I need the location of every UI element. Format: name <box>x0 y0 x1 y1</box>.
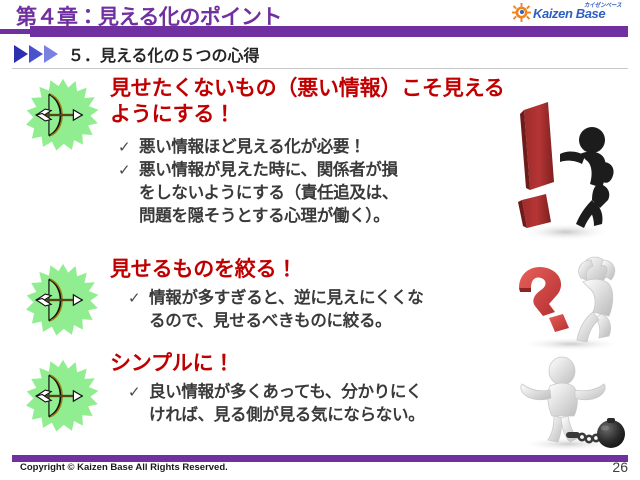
question-mark-with-figure-icon <box>505 252 635 350</box>
list-item: ✓ 悪い情報ほど見える化が必要！ <box>118 136 518 159</box>
section-subheading: ５．見える化の５つの心得 <box>14 42 260 66</box>
check-icon: ✓ <box>118 159 137 182</box>
subheading-divider <box>12 68 628 69</box>
bullet-text: 悪い情報が見えた時に、関係者が損 をしないようにする（責任追及は、 問題を隠そう… <box>139 159 398 228</box>
copyright-text: Copyright © Kaizen Base All Rights Reser… <box>20 462 228 473</box>
bullet-text: 悪い情報ほど見える化が必要！ <box>139 136 365 159</box>
block-2-bullet-list: ✓ 情報が多すぎると、逆に見えにくくな るので、見せるべきものに絞る。 <box>128 287 528 333</box>
bullet-text: 情報が多すぎると、逆に見えにくくな るので、見せるべきものに絞る。 <box>149 287 423 333</box>
bow-and-arrow-starburst-icon <box>26 78 100 152</box>
list-item: ✓ 良い情報が多くあっても、分かりにく ければ、見る側が見る気にならない。 <box>128 381 528 427</box>
list-item: ✓ 悪い情報が見えた時に、関係者が損 をしないようにする（責任追及は、 問題を隠… <box>118 159 518 228</box>
check-icon: ✓ <box>128 287 147 310</box>
check-icon: ✓ <box>128 381 147 404</box>
title-divider-bar-tail <box>0 29 30 34</box>
bullet-text: 良い情報が多くあっても、分かりにく ければ、見る側が見る気にならない。 <box>149 381 424 427</box>
slide-canvas: 第４章：見える化のポイント カイゼンベース Kaizen <box>0 0 640 480</box>
block-1-bullet-list: ✓ 悪い情報ほど見える化が必要！ ✓ 悪い情報が見えた時に、関係者が損 をしない… <box>118 136 518 228</box>
bow-and-arrow-starburst-icon <box>26 359 100 433</box>
footer-divider-bar <box>12 455 628 462</box>
gear-sun-icon <box>512 3 531 22</box>
block-3-bullet-list: ✓ 良い情報が多くあっても、分かりにく ければ、見る側が見る気にならない。 <box>128 381 528 427</box>
logo-wordmark: Kaizen Base <box>533 7 605 20</box>
kaizen-base-logo: カイゼンベース Kaizen Base <box>508 1 634 25</box>
bow-and-arrow-starburst-icon <box>26 263 100 337</box>
subheading-label: ５．見える化の５つの心得 <box>68 42 260 66</box>
list-item: ✓ 情報が多すぎると、逆に見えにくくな るので、見せるべきものに絞る。 <box>128 287 528 333</box>
figure-with-ball-and-chain-icon <box>510 356 632 452</box>
check-icon: ✓ <box>118 136 137 159</box>
block-3-heading: シンプルに！ <box>110 351 530 377</box>
block-2-heading: 見せるものを絞る！ <box>110 257 530 283</box>
exclamation-mark-with-figure-icon <box>508 96 630 246</box>
page-number: 26 <box>612 459 628 475</box>
block-1-heading: 見せたくないもの（悪い情報）こそ見える ようにする！ <box>110 76 530 128</box>
title-divider-bar <box>30 26 628 37</box>
triple-chevron-right-icon <box>14 45 58 63</box>
